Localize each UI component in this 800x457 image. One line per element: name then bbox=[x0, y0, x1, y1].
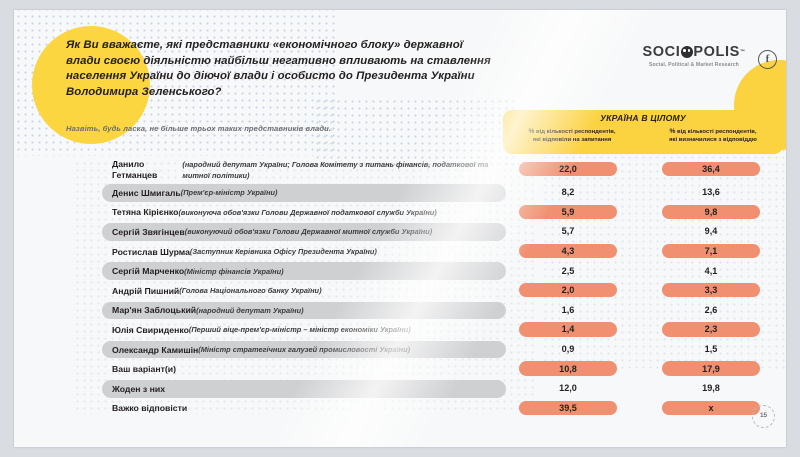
value-decided: 4,1 bbox=[662, 263, 760, 277]
row-label: Сергій Марченко (Міністр фінансів Україн… bbox=[112, 261, 512, 281]
value-decided: 17,9 bbox=[662, 361, 760, 375]
value-decided: 2,3 bbox=[662, 322, 760, 336]
person-description: (Перший віце-прем'єр-міністр – міністр е… bbox=[189, 325, 411, 334]
person-name: Ваш варіант(и) bbox=[112, 364, 176, 374]
facebook-icon[interactable]: f bbox=[758, 50, 777, 69]
page-title: Як Ви вважаєте, які представники «економ… bbox=[66, 38, 496, 100]
value-answered: 5,7 bbox=[519, 224, 617, 238]
person-name: Сергій Марченко bbox=[112, 266, 184, 276]
page-subtitle: Назвіть, будь ласка, не більше трьох так… bbox=[66, 124, 496, 133]
table-row: Ваш варіант(и)10,817,9 bbox=[14, 359, 786, 379]
logo-word-left: SOCI bbox=[643, 44, 681, 60]
value-decided: 19,8 bbox=[662, 381, 760, 395]
row-label: Олександр Камишін (Міністр стратегічних … bbox=[112, 340, 512, 360]
column-header-decided: % від кількості респондентів, які визнач… bbox=[644, 128, 782, 144]
table-row: Олександр Камишін (Міністр стратегічних … bbox=[14, 340, 786, 360]
person-name: Тетяна Кірієнко bbox=[112, 207, 178, 217]
value-decided: 13,6 bbox=[662, 185, 760, 199]
table-row: Важко відповісти39,5x bbox=[14, 399, 786, 419]
column-header-answered-line2: які відповіли на запитання bbox=[533, 137, 612, 143]
value-decided: 9,8 bbox=[662, 205, 760, 219]
value-answered: 2,0 bbox=[519, 283, 617, 297]
row-label: Мар'ян Заблоцький (народний депутат Укра… bbox=[112, 301, 512, 321]
row-label: Юлія Свириденко (Перший віце-прем'єр-мін… bbox=[112, 320, 512, 340]
sociopolis-logo: SOCI POLIS ™ Social, Political & Market … bbox=[639, 44, 749, 68]
logo-face-icon bbox=[681, 46, 693, 58]
value-decided: 1,5 bbox=[662, 342, 760, 356]
table-row: Жоден з них12,019,8 bbox=[14, 379, 786, 399]
row-label: Жоден з них bbox=[112, 379, 512, 399]
table-row: Сергій Марченко (Міністр фінансів Україн… bbox=[14, 261, 786, 281]
person-description: (Прем'єр-міністр України) bbox=[181, 188, 278, 197]
page-number-badge: 15 bbox=[752, 405, 775, 428]
logo-wordmark: SOCI POLIS ™ bbox=[639, 44, 749, 60]
person-name: Мар'ян Заблоцький bbox=[112, 305, 196, 315]
row-label: Андрій Пишний (Голова Національного банк… bbox=[112, 281, 512, 301]
table-row: Денис Шмигаль (Прем'єр-міністр України)8… bbox=[14, 183, 786, 203]
logo-tagline: Social, Political & Market Research bbox=[639, 62, 749, 68]
value-answered: 8,2 bbox=[519, 185, 617, 199]
row-label: Сергій Звягінцев (виконуючий обов'язки Г… bbox=[112, 222, 512, 242]
row-label: Ваш варіант(и) bbox=[112, 359, 512, 379]
person-name: Юлія Свириденко bbox=[112, 325, 189, 335]
row-label: Денис Шмигаль (Прем'єр-міністр України) bbox=[112, 183, 512, 203]
table-row: Сергій Звягінцев (виконуючий обов'язки Г… bbox=[14, 222, 786, 242]
value-answered: 5,9 bbox=[519, 205, 617, 219]
value-decided: x bbox=[662, 401, 760, 415]
row-label: Ростислав Шурма (Заступник Керівника Офі… bbox=[112, 242, 512, 262]
person-description: (народний депутат України) bbox=[196, 306, 303, 315]
person-name: Жоден з них bbox=[112, 384, 165, 394]
value-answered: 12,0 bbox=[519, 381, 617, 395]
value-answered: 1,4 bbox=[519, 322, 617, 336]
person-name: Андрій Пишний bbox=[112, 286, 179, 296]
column-header-decided-line1: від кількості респондентів, bbox=[675, 129, 756, 135]
person-name: Ростислав Шурма bbox=[112, 247, 190, 257]
value-decided: 2,6 bbox=[662, 303, 760, 317]
person-description: (виконуючий обов'язки Голови Державної м… bbox=[185, 227, 432, 236]
person-description: (народний депутат України; Голова Коміте… bbox=[182, 159, 512, 182]
person-name: Денис Шмигаль bbox=[112, 188, 181, 198]
value-decided: 7,1 bbox=[662, 244, 760, 258]
value-answered: 22,0 bbox=[519, 162, 617, 176]
person-description: (Заступник Керівника Офісу Президента Ук… bbox=[190, 247, 377, 256]
value-decided: 9,4 bbox=[662, 224, 760, 238]
value-answered: 4,3 bbox=[519, 244, 617, 258]
person-name: Сергій Звягінцев bbox=[112, 227, 185, 237]
table-row: Ростислав Шурма (Заступник Керівника Офі… bbox=[14, 242, 786, 262]
table-row: Тетяна Кірієнко (виконуюча обов'язки Гол… bbox=[14, 203, 786, 223]
value-decided: 36,4 bbox=[662, 162, 760, 176]
value-decided: 3,3 bbox=[662, 283, 760, 297]
row-label: Данило Гетманцев (народний депутат Украї… bbox=[112, 158, 512, 184]
table-row: Юлія Свириденко (Перший віце-прем'єр-мін… bbox=[14, 320, 786, 340]
value-answered: 0,9 bbox=[519, 342, 617, 356]
person-name: Данило Гетманцев bbox=[112, 159, 182, 182]
value-answered: 10,8 bbox=[519, 361, 617, 375]
person-description: (Міністр стратегічних галузей промислово… bbox=[198, 345, 410, 354]
logo-word-right: POLIS bbox=[693, 44, 740, 60]
results-table: Данило Гетманцев (народний депутат Украї… bbox=[14, 158, 786, 418]
column-header-answered-line1: від кількості респондентів, bbox=[534, 129, 615, 135]
column-header-decided-line2: які визначилися з відповіддю bbox=[669, 137, 757, 143]
person-description: (Міністр фінансів України) bbox=[184, 267, 283, 276]
person-description: (виконуюча обов'язки Голови Державної по… bbox=[178, 208, 436, 217]
value-answered: 39,5 bbox=[519, 401, 617, 415]
value-answered: 2,5 bbox=[519, 263, 617, 277]
table-row: Мар'ян Заблоцький (народний депутат Укра… bbox=[14, 301, 786, 321]
person-name: Важко відповісти bbox=[112, 403, 187, 413]
row-label: Важко відповісти bbox=[112, 399, 512, 419]
column-header-answered: % від кількості респондентів, які відпов… bbox=[503, 128, 641, 144]
logo-trademark: ™ bbox=[740, 49, 746, 55]
person-name: Олександр Камишін bbox=[112, 345, 198, 355]
value-answered: 1,6 bbox=[519, 303, 617, 317]
table-row: Данило Гетманцев (народний депутат Украї… bbox=[14, 158, 786, 183]
person-description: (Голова Національного банку України) bbox=[179, 286, 321, 295]
banner-title: УКРАЇНА В ЦІЛОМУ bbox=[503, 113, 783, 123]
row-label: Тетяна Кірієнко (виконуюча обов'язки Гол… bbox=[112, 203, 512, 223]
slide-canvas: Як Ви вважаєте, які представники «економ… bbox=[14, 10, 786, 447]
table-row: Андрій Пишний (Голова Національного банк… bbox=[14, 281, 786, 301]
